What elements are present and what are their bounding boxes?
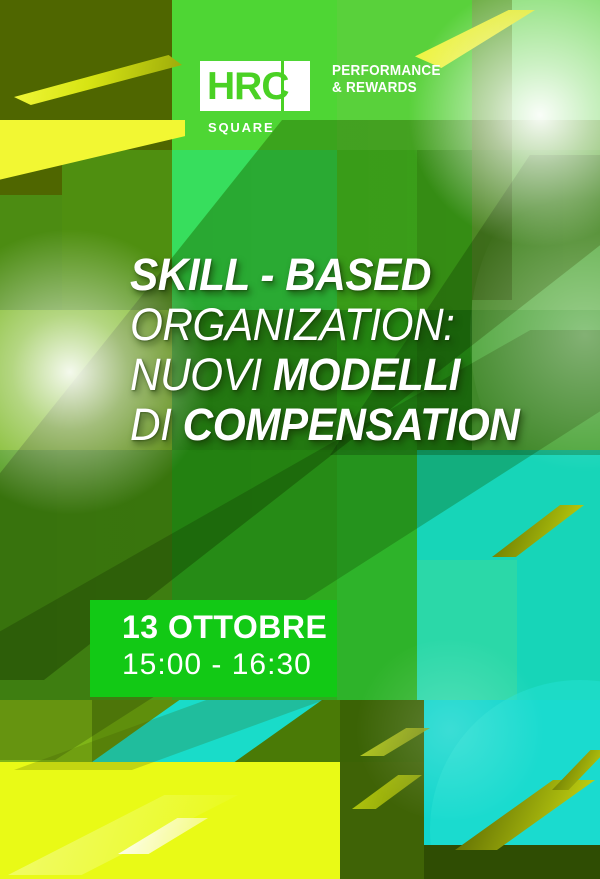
title-line-4-light: DI (130, 399, 183, 450)
title-line-2-text: ORGANIZATION: (130, 299, 454, 350)
poster-title: SKILL - BASED ORGANIZATION: NUOVI MODELL… (130, 250, 544, 450)
title-line-4-bold: COMPENSATION (183, 399, 520, 450)
title-line-2: ORGANIZATION: (130, 300, 544, 350)
event-poster: HRC SQUARE PERFORMANCE & REWARDS SKILL -… (0, 0, 600, 879)
title-line-3-bold: MODELLI (273, 349, 460, 400)
logo-subtitle: SQUARE (200, 120, 310, 135)
brand-logo: HRC SQUARE PERFORMANCE & REWARDS (200, 61, 453, 135)
bg-block (424, 845, 600, 879)
tagline-line-1: PERFORMANCE (332, 63, 441, 80)
logo-wordmark: HRC (200, 67, 289, 106)
bg-block (417, 560, 517, 700)
title-line-1: SKILL - BASED (130, 250, 544, 300)
tagline-line-2: & REWARDS (332, 80, 441, 97)
logo-divider (281, 61, 284, 111)
logo-box: HRC (200, 61, 310, 111)
bg-block (180, 762, 340, 879)
title-line-3-light: NUOVI (130, 349, 273, 400)
event-date: 13 OTTOBRE (122, 608, 327, 646)
event-date-text: 13 OTTOBRE 15:00 - 16:30 (122, 608, 327, 684)
brand-tagline: PERFORMANCE & REWARDS (332, 63, 441, 97)
event-time: 15:00 - 16:30 (122, 646, 327, 684)
bg-block (0, 195, 62, 310)
title-line-4: DI COMPENSATION (130, 400, 544, 450)
title-line-3: NUOVI MODELLI (130, 350, 544, 400)
title-line-1-text: SKILL - BASED (130, 249, 431, 300)
logo-mark: HRC SQUARE (200, 61, 310, 135)
